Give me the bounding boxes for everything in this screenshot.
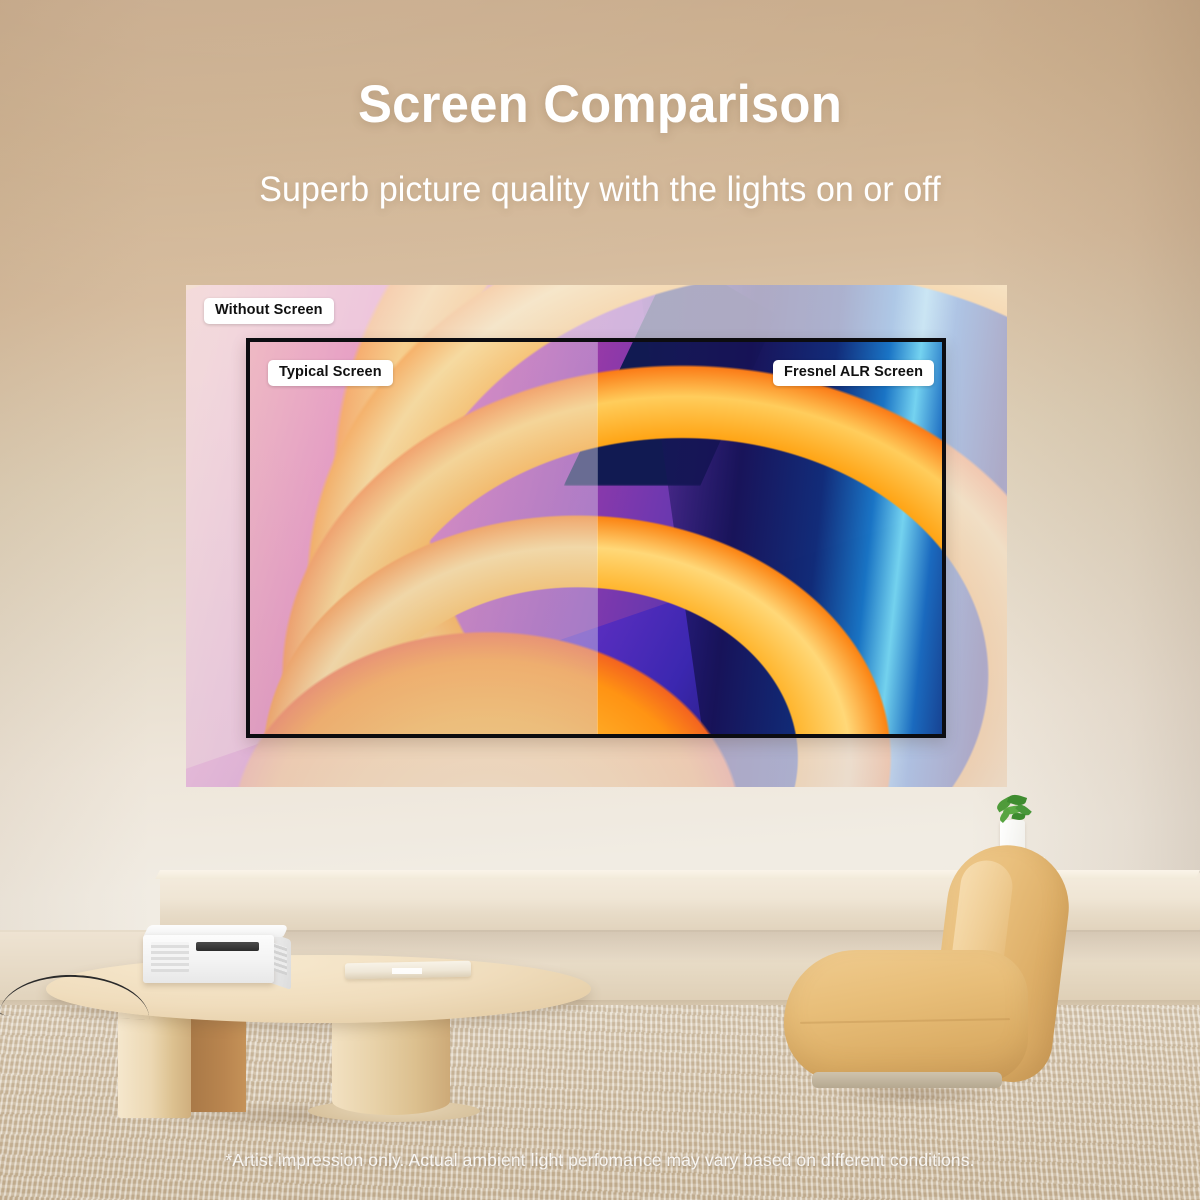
wall-shadow-left — [0, 0, 150, 940]
footer-disclaimer: *Artist impression only. Actual ambient … — [0, 1150, 1200, 1171]
label-without-screen: Without Screen — [204, 298, 334, 324]
label-fresnel-alr-screen: Fresnel ALR Screen — [773, 360, 934, 386]
projector-lens-bar — [196, 942, 259, 951]
power-cable-drop — [0, 980, 22, 1016]
book-on-table-label — [392, 968, 422, 974]
label-typical-screen: Typical Screen — [268, 360, 393, 386]
projector-side-vent — [274, 943, 287, 975]
room-scene: Without Screen Typical Screen Fresnel AL… — [0, 0, 1200, 1200]
screen-split-divider — [597, 342, 598, 734]
washout-overlay-typical-gradient — [250, 342, 597, 734]
page-title: Screen Comparison — [24, 74, 1176, 135]
framed-screen — [246, 338, 946, 738]
projector-vent-grille — [151, 942, 189, 972]
projector — [143, 925, 291, 983]
lounge-chair-seat — [784, 950, 1028, 1082]
lounge-chair-base — [812, 1072, 1002, 1088]
page-subtitle: Superb picture quality with the lights o… — [18, 170, 1182, 210]
